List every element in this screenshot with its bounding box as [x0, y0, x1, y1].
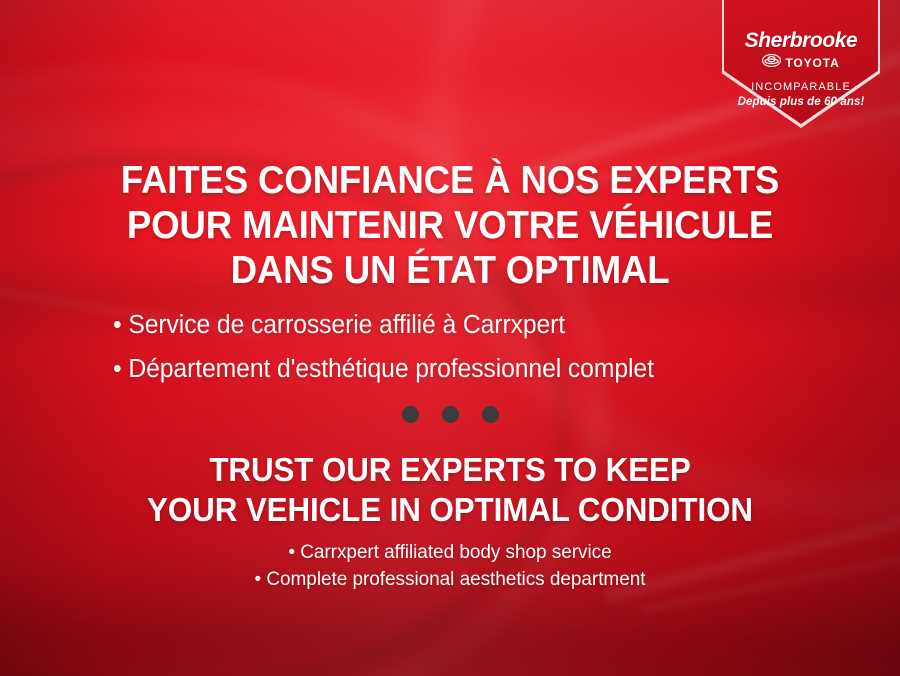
separator-dot: [442, 406, 459, 423]
headline-french-line-1: FAITES CONFIANCE À NOS EXPERTS: [27, 158, 873, 203]
headline-english-line-2: YOUR VEHICLE IN OPTIMAL CONDITION: [23, 490, 878, 530]
bullet-list-english: • Carrxpert affiliated body shop service…: [0, 539, 900, 593]
bullet-item-french: • Département d'esthétique professionnel…: [113, 347, 654, 391]
headline-french-line-3: DANS UN ÉTAT OPTIMAL: [27, 248, 873, 293]
separator-dot: [482, 406, 499, 423]
headline-french: FAITES CONFIANCE À NOS EXPERTS POUR MAIN…: [27, 158, 873, 293]
promo-banner: Sherbrooke TOYOTA INCOMPARABLE Depuis pl…: [0, 0, 900, 676]
headline-english: TRUST OUR EXPERTS TO KEEP YOUR VEHICLE I…: [23, 450, 878, 530]
headline-french-line-2: POUR MAINTENIR VOTRE VÉHICULE: [27, 203, 873, 248]
bullet-list-french: • Service de carrosserie affilié à Carrx…: [113, 303, 654, 391]
section-separator-dots: [0, 406, 900, 423]
bullet-item-english: • Carrxpert affiliated body shop service: [0, 539, 900, 566]
promo-content: FAITES CONFIANCE À NOS EXPERTS POUR MAIN…: [0, 0, 900, 676]
headline-english-line-1: TRUST OUR EXPERTS TO KEEP: [23, 450, 878, 490]
separator-dot: [402, 406, 419, 423]
bullet-item-french: • Service de carrosserie affilié à Carrx…: [113, 303, 654, 347]
bullet-item-english: • Complete professional aesthetics depar…: [0, 566, 900, 593]
